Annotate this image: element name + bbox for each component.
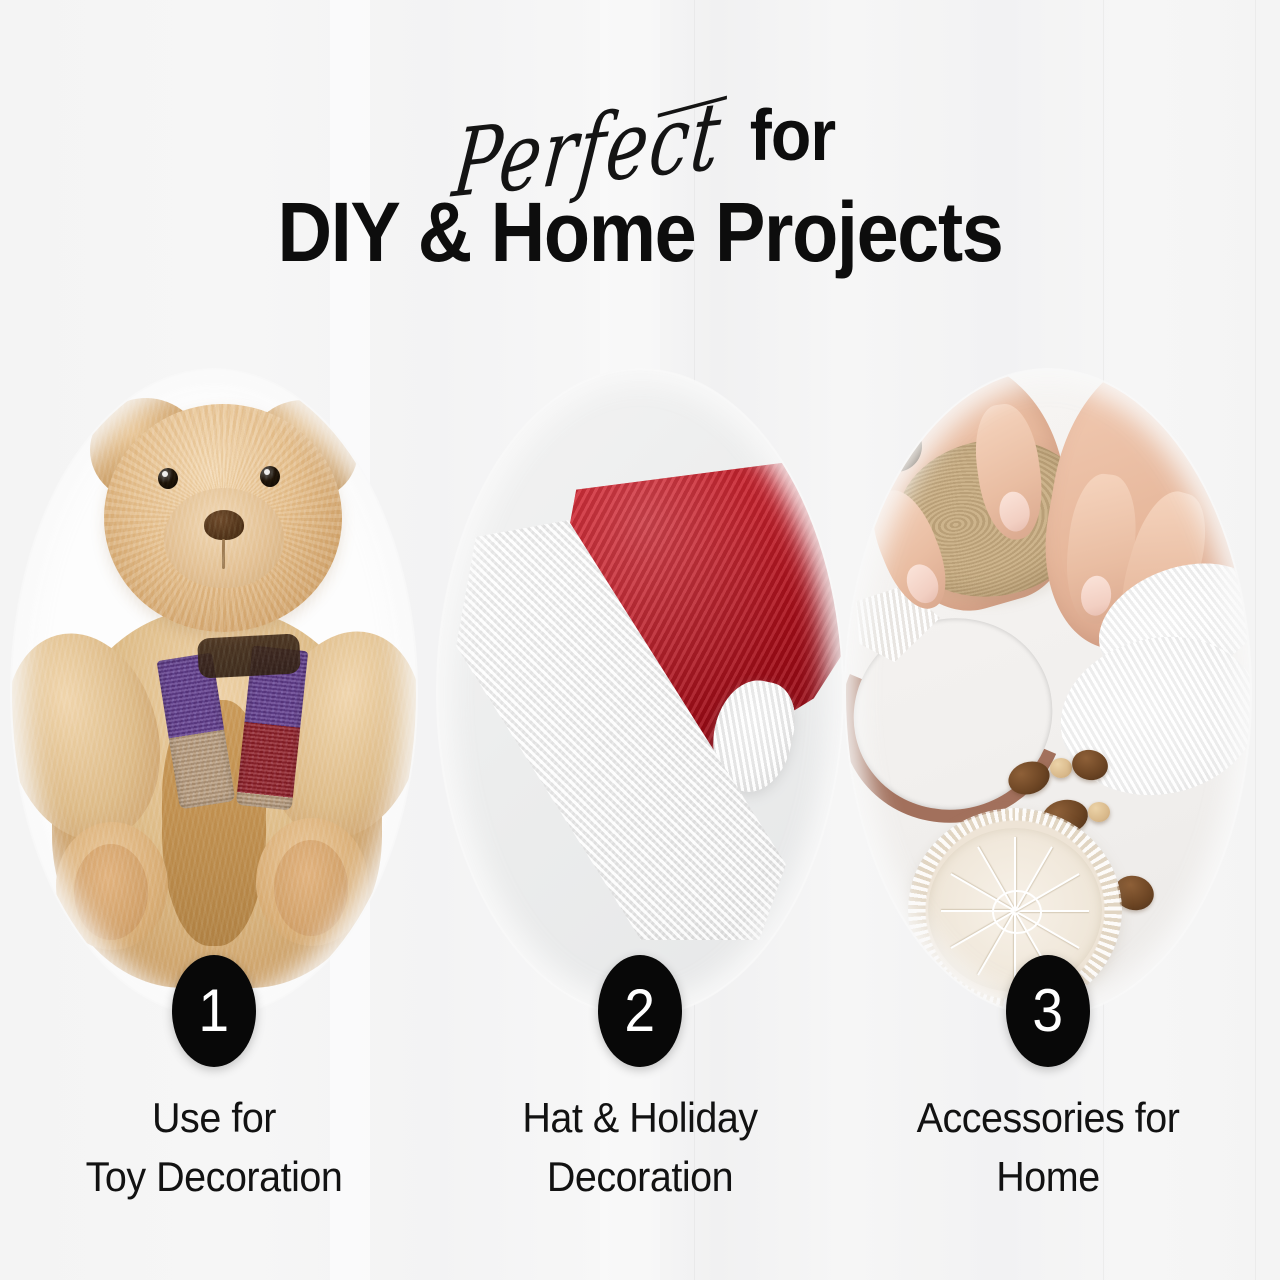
caption-line-1: Use for [152,1094,276,1141]
dreamcatcher-inner-ring [992,890,1042,934]
photo-frame [12,370,416,1015]
photo-frame [846,370,1250,1015]
bear-eye-left-icon [158,468,178,489]
caption-line-1: Accessories for [917,1094,1180,1141]
santa-hat-illustration [438,370,842,1015]
step-badge: 3 [1006,955,1090,1067]
feature-card: 3 Accessories for Home [846,370,1250,1240]
card-caption: Hat & Holiday Decoration [428,1088,853,1206]
photo-frame [438,370,842,1015]
card-caption: Use for Toy Decoration [2,1088,427,1206]
wooden-bead [1050,758,1072,778]
fingernail [997,490,1032,534]
step-number: 1 [199,981,230,1041]
bear-nose-icon [204,510,244,540]
caption-line-1: Hat & Holiday [522,1094,757,1141]
step-badge: 1 [172,955,256,1067]
step-number: 3 [1033,981,1064,1041]
bear-paw-pad-right [274,840,348,936]
feature-card: 1 Use for Toy Decoration [12,370,416,1240]
title-main-line: DIY & Home Projects [64,184,1216,280]
infographic-canvas: Perfectfor DIY & Home Projects [0,0,1280,1280]
dreamcatcher-craft-photo [846,370,1250,1015]
caption-line-2: Decoration [428,1147,853,1206]
bear-eye-right-icon [260,466,280,487]
dreamcatcher-craft-illustration [846,370,1250,1015]
caption-line-2: Toy Decoration [2,1147,427,1206]
title-line-one: Perfectfor [0,82,1280,190]
feature-cards: 1 Use for Toy Decoration [0,370,1280,1240]
scarf-knot [197,633,301,678]
card-caption: Accessories for Home [836,1088,1261,1206]
step-number: 2 [625,981,656,1041]
title-bold-word: for [750,82,836,190]
santa-hat-photo [438,370,842,1015]
step-badge: 2 [598,955,682,1067]
caption-line-2: Home [836,1147,1261,1206]
bear-paw-pad-left [74,844,148,940]
page-title: Perfectfor DIY & Home Projects [0,82,1280,280]
twine-spool-hole [870,420,922,472]
teddy-bear-illustration [12,370,416,1015]
bear-mouth [222,539,225,569]
feature-card: 2 Hat & Holiday Decoration [438,370,842,1240]
teddy-bear-photo [12,370,416,1015]
